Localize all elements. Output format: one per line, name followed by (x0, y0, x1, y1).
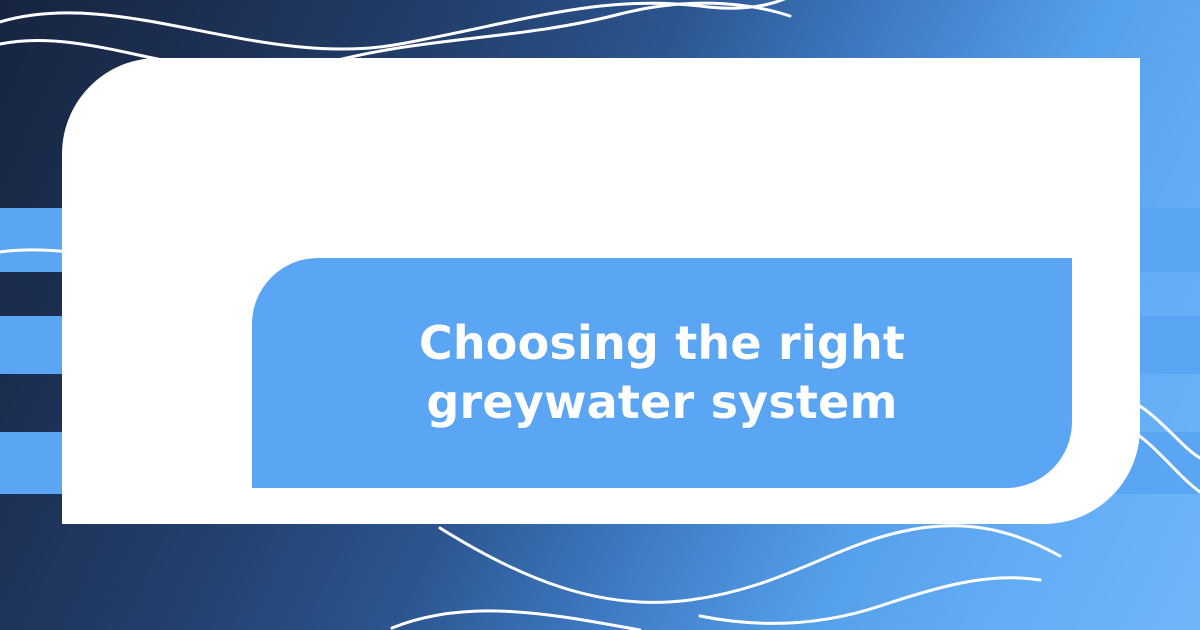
wave-line-4 (1130, 400, 1200, 458)
banner-canvas: Choosing the right greywater system (0, 0, 1200, 630)
wave-line-1 (0, 0, 800, 49)
title-plate: Choosing the right greywater system (252, 258, 1072, 488)
wave-line-6 (440, 526, 1060, 603)
wave-line-8 (700, 578, 1040, 624)
wave-line-5 (1134, 432, 1200, 492)
content-card: Choosing the right greywater system (62, 58, 1140, 524)
page-title: Choosing the right greywater system (322, 314, 1002, 432)
wave-line-7 (392, 611, 640, 630)
